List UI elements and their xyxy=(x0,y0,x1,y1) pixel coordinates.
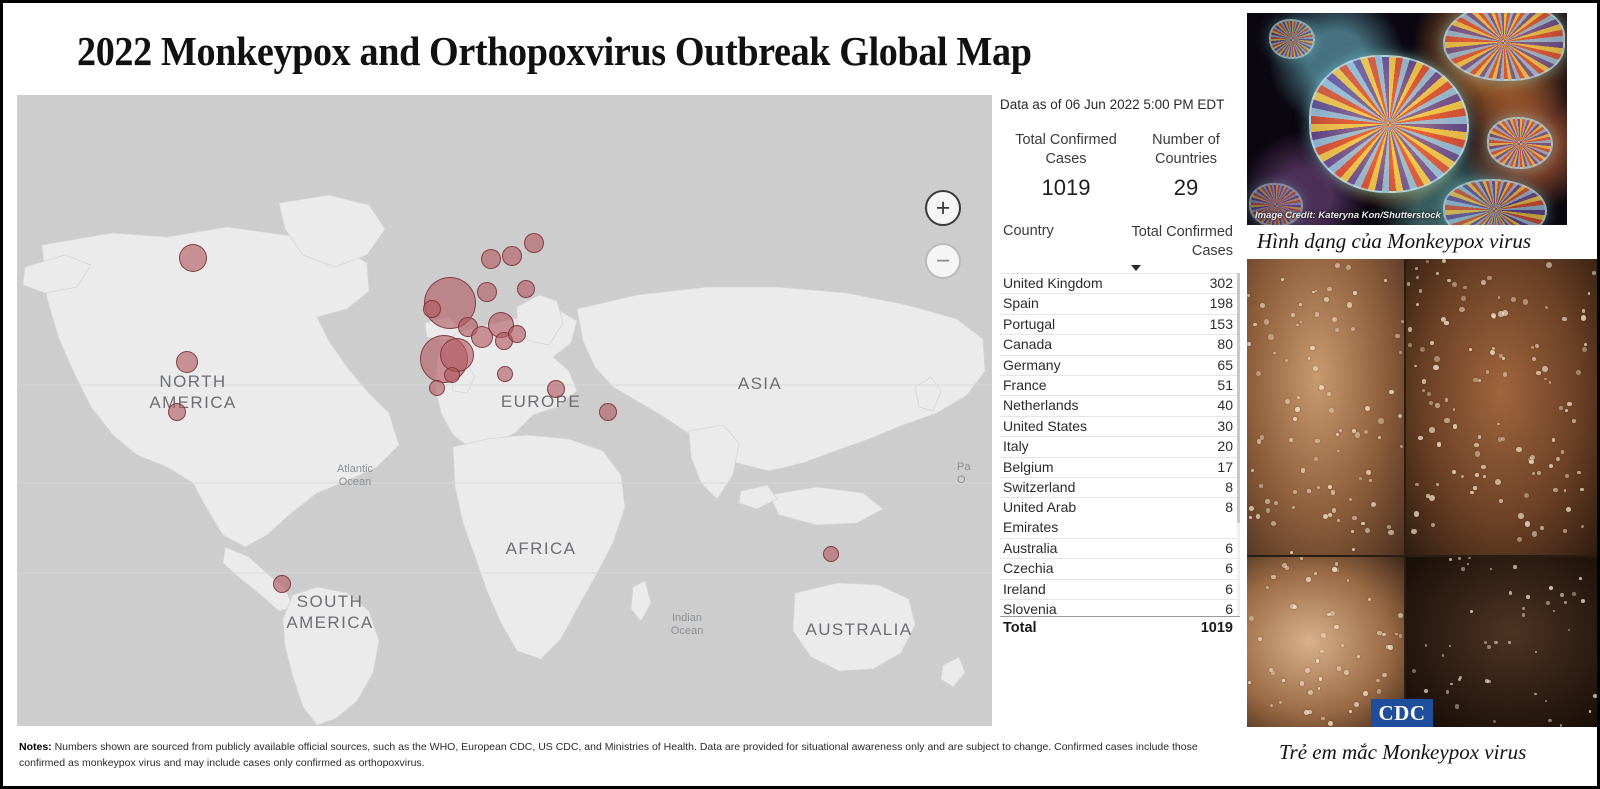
row-cases: 6 xyxy=(1110,540,1233,556)
pox-lesion xyxy=(1426,260,1429,263)
pox-lesion xyxy=(1382,673,1387,678)
pox-lesion xyxy=(1295,407,1300,412)
pox-lesion xyxy=(1484,641,1487,644)
pox-lesion xyxy=(1516,447,1522,453)
pox-lesion xyxy=(1562,317,1567,322)
pox-lesion xyxy=(1388,645,1392,649)
pox-lesion xyxy=(1329,408,1334,413)
pox-lesion xyxy=(1395,633,1398,636)
pox-lesion xyxy=(1453,424,1458,429)
pox-lesion xyxy=(1436,483,1439,486)
pox-lesion xyxy=(1268,334,1273,339)
row-country: Italy xyxy=(1003,438,1029,454)
pox-lesion xyxy=(1478,379,1482,383)
pox-lesion xyxy=(1425,644,1427,646)
kpi-total-cases-value: 1019 xyxy=(1005,175,1127,201)
row-cases: 65 xyxy=(1110,357,1233,373)
pox-lesion xyxy=(1416,276,1419,279)
pox-lesion xyxy=(1388,530,1393,535)
pox-lesion xyxy=(1458,557,1461,560)
pox-lesion xyxy=(1499,499,1503,503)
pox-lesion xyxy=(1407,282,1411,286)
pox-lesion xyxy=(1371,502,1376,507)
pox-lesion xyxy=(1412,669,1416,673)
country-case-table[interactable]: United Kingdom302Spain198Portugal153Cana… xyxy=(1000,273,1240,616)
sort-descending-icon[interactable] xyxy=(1131,265,1141,271)
pox-lesion xyxy=(1546,262,1552,268)
kpi-total-confirmed-cases: Total Confirmed Cases 1019 xyxy=(1005,131,1127,201)
pox-lesion xyxy=(1365,528,1370,533)
case-bubble[interactable] xyxy=(481,249,501,269)
pox-lesion xyxy=(1363,691,1367,695)
pox-lesion xyxy=(1332,567,1336,571)
table-scrollbar-thumb[interactable] xyxy=(1237,273,1240,523)
pox-lesion xyxy=(1296,324,1299,327)
pox-lesion xyxy=(1453,408,1456,411)
pox-lesion xyxy=(1320,650,1323,653)
pox-lesion xyxy=(1299,303,1302,306)
pox-lesion xyxy=(1328,721,1333,726)
pox-lesion xyxy=(1442,654,1445,657)
pox-lesion xyxy=(1418,436,1423,441)
pox-lesion xyxy=(1332,508,1336,512)
pox-lesion xyxy=(1341,644,1344,647)
case-bubble[interactable] xyxy=(599,403,617,421)
pox-lesion xyxy=(1581,525,1584,528)
pox-lesion xyxy=(1344,670,1349,675)
table-row[interactable]: Belgium17 xyxy=(1000,457,1240,477)
pox-lesion xyxy=(1567,402,1572,407)
pox-lesion xyxy=(1481,280,1486,285)
pox-lesion xyxy=(1502,357,1505,360)
case-bubble[interactable] xyxy=(429,380,445,396)
pox-lesion xyxy=(1297,396,1300,399)
pox-lesion xyxy=(1561,450,1565,454)
table-row[interactable]: Spain198 xyxy=(1000,293,1240,313)
pox-lesion xyxy=(1395,334,1400,339)
pox-lesion xyxy=(1565,409,1568,412)
pox-lesion xyxy=(1544,378,1547,381)
pox-lesion xyxy=(1271,671,1275,675)
table-row[interactable]: Czechia6 xyxy=(1000,558,1240,578)
pox-lesion xyxy=(1290,551,1293,554)
pox-lesion xyxy=(1525,521,1530,526)
pox-lesion xyxy=(1315,312,1320,317)
pox-lesion xyxy=(1377,689,1382,694)
pox-lesion xyxy=(1398,414,1402,418)
pox-lesion xyxy=(1293,490,1297,494)
row-cases: 51 xyxy=(1110,377,1233,393)
pox-lesion xyxy=(1553,610,1555,612)
pox-lesion xyxy=(1352,548,1355,551)
row-cases: 17 xyxy=(1110,459,1233,475)
table-row[interactable]: United States30 xyxy=(1000,416,1240,436)
pox-lesion xyxy=(1335,328,1339,332)
column-header-country[interactable]: Country xyxy=(1003,223,1054,239)
pox-lesion xyxy=(1529,460,1534,465)
pox-lesion xyxy=(1305,668,1310,673)
table-row[interactable]: Netherlands40 xyxy=(1000,395,1240,415)
pox-lesion xyxy=(1271,575,1276,580)
case-bubble[interactable] xyxy=(179,244,207,272)
pox-lesion xyxy=(1313,366,1318,371)
pox-lesion xyxy=(1330,611,1335,616)
pox-lesion xyxy=(1560,593,1564,597)
pox-lesion xyxy=(1266,586,1269,589)
case-bubble[interactable] xyxy=(477,282,497,302)
pox-lesion xyxy=(1576,370,1581,375)
pox-lesion xyxy=(1490,568,1493,571)
pox-lesion xyxy=(1429,401,1433,405)
table-row[interactable]: Switzerland8 xyxy=(1000,477,1240,497)
virion-particle-icon xyxy=(1487,117,1553,169)
pox-lesion xyxy=(1354,702,1359,707)
page-title: 2022 Monkeypox and Orthopoxvirus Outbrea… xyxy=(77,27,1032,75)
case-bubble[interactable] xyxy=(524,233,544,253)
pox-lesion xyxy=(1408,327,1413,332)
pox-lesion xyxy=(1579,577,1582,580)
pox-lesion xyxy=(1387,525,1391,529)
zoom-in-button[interactable]: + xyxy=(925,190,961,226)
pox-lesion xyxy=(1264,319,1269,324)
pox-lesion xyxy=(1422,379,1427,384)
pox-lesion xyxy=(1483,475,1486,478)
case-bubble[interactable] xyxy=(440,338,474,372)
case-bubble[interactable] xyxy=(508,325,526,343)
pox-lesion xyxy=(1497,423,1500,426)
row-cases: 6 xyxy=(1110,560,1233,576)
total-label: Total xyxy=(1003,620,1037,636)
column-header-total-confirmed-cases[interactable]: Total Confirmed Cases xyxy=(1110,223,1233,261)
row-cases: 20 xyxy=(1110,438,1233,454)
pox-lesion xyxy=(1368,598,1371,601)
case-bubble[interactable] xyxy=(517,280,535,298)
pox-lesion xyxy=(1271,521,1276,526)
row-country: United Kingdom xyxy=(1003,275,1103,291)
pox-lesion xyxy=(1534,693,1537,696)
pox-lesion xyxy=(1399,351,1402,354)
pox-lesion xyxy=(1490,350,1495,355)
table-row[interactable]: Germany65 xyxy=(1000,355,1240,375)
pox-lesion xyxy=(1291,313,1295,317)
right-image-column: Image Credit: Kateryna Kon/Shutterstock … xyxy=(1243,7,1599,788)
pox-lesion xyxy=(1314,572,1317,575)
pox-lesion xyxy=(1526,595,1530,599)
pox-lesion xyxy=(1581,599,1585,603)
virion-particle-icon xyxy=(1443,13,1565,81)
pox-lesion xyxy=(1319,385,1324,390)
kpi-countries-label: Number of Countries xyxy=(1132,131,1240,169)
pox-lesion xyxy=(1461,475,1464,478)
rash-photo-bottom-right xyxy=(1406,557,1597,727)
pox-lesion xyxy=(1327,392,1331,396)
pox-lesion xyxy=(1508,641,1510,643)
pox-lesion xyxy=(1565,474,1569,478)
pox-lesion xyxy=(1300,321,1303,324)
cdc-watermark: CDC xyxy=(1371,699,1433,727)
pox-lesion xyxy=(1592,271,1596,275)
pox-lesion xyxy=(1474,443,1478,447)
pox-lesion xyxy=(1414,511,1419,516)
pox-lesion xyxy=(1408,343,1412,347)
pox-lesion xyxy=(1470,491,1473,494)
pox-lesion xyxy=(1481,465,1485,469)
pox-lesion xyxy=(1426,494,1430,498)
pox-lesion xyxy=(1359,477,1362,480)
pox-lesion xyxy=(1475,451,1481,457)
pox-lesion xyxy=(1314,457,1319,462)
pox-lesion xyxy=(1308,357,1311,360)
pox-lesion xyxy=(1437,442,1442,447)
case-bubble[interactable] xyxy=(423,300,441,318)
row-country: Czechia xyxy=(1003,560,1054,576)
pox-lesion xyxy=(1251,469,1254,472)
pox-lesion xyxy=(1513,565,1517,569)
pox-lesion xyxy=(1318,687,1321,690)
case-bubble[interactable] xyxy=(823,546,839,562)
pox-lesion xyxy=(1414,365,1417,368)
pox-lesion xyxy=(1337,519,1341,523)
cdc-dashboard: 2022 Monkeypox and Orthopoxvirus Outbrea… xyxy=(7,7,1240,784)
pox-lesion xyxy=(1422,389,1425,392)
table-row[interactable]: Ireland6 xyxy=(1000,579,1240,599)
pox-lesion xyxy=(1310,346,1314,350)
pox-lesion xyxy=(1493,720,1496,723)
pox-lesion xyxy=(1537,471,1542,476)
pox-lesion xyxy=(1285,399,1290,404)
pox-lesion xyxy=(1429,427,1434,432)
pox-lesion xyxy=(1424,689,1428,693)
pox-lesion xyxy=(1435,403,1439,407)
row-country: France xyxy=(1003,377,1047,393)
row-country: Belgium xyxy=(1003,459,1054,475)
pox-lesion xyxy=(1444,418,1449,423)
row-cases: 40 xyxy=(1110,397,1233,413)
row-country: Germany xyxy=(1003,357,1061,373)
pox-lesion xyxy=(1447,279,1450,282)
pox-lesion xyxy=(1442,259,1446,263)
pox-lesion xyxy=(1317,486,1320,489)
pox-lesion xyxy=(1347,302,1352,307)
pox-lesion xyxy=(1589,710,1592,713)
pox-lesion xyxy=(1378,418,1383,423)
pox-lesion xyxy=(1290,604,1295,609)
pox-lesion xyxy=(1549,586,1553,590)
case-bubble[interactable] xyxy=(168,403,186,421)
pox-lesion xyxy=(1487,276,1492,281)
pox-lesion xyxy=(1259,484,1263,488)
pox-lesion xyxy=(1321,633,1326,638)
case-bubble[interactable] xyxy=(497,366,513,382)
case-bubble[interactable] xyxy=(273,575,291,593)
pox-lesion xyxy=(1308,690,1313,695)
virion-particle-icon xyxy=(1269,19,1315,59)
row-country: United States xyxy=(1003,418,1087,434)
case-bubble[interactable] xyxy=(547,380,565,398)
pox-lesion xyxy=(1580,488,1584,492)
pox-lesion xyxy=(1548,719,1551,722)
table-header: Country Total Confirmed Cases xyxy=(1000,223,1240,270)
pox-lesion xyxy=(1260,435,1265,440)
kpi-number-of-countries: Number of Countries 29 xyxy=(1132,131,1240,201)
pox-lesion xyxy=(1470,610,1473,613)
pox-lesion xyxy=(1335,263,1340,268)
pox-lesion xyxy=(1420,347,1425,352)
rash-photo-top-right xyxy=(1406,259,1597,555)
pox-lesion xyxy=(1353,291,1356,294)
pox-lesion xyxy=(1292,506,1295,509)
pox-lesion xyxy=(1273,352,1276,355)
pox-lesion xyxy=(1265,499,1270,504)
pox-lesion xyxy=(1459,307,1465,313)
pox-lesion xyxy=(1248,681,1251,684)
pox-lesion xyxy=(1399,634,1402,637)
pox-lesion xyxy=(1327,287,1331,291)
pox-lesion xyxy=(1581,315,1587,321)
case-bubble[interactable] xyxy=(176,351,198,373)
pox-lesion xyxy=(1546,601,1550,605)
monkeypox-rash-image: CDC xyxy=(1247,259,1597,727)
pox-lesion xyxy=(1468,557,1470,559)
table-row[interactable]: United Kingdom302 xyxy=(1000,273,1240,293)
pox-lesion xyxy=(1357,655,1360,658)
notes-text: Notes: Numbers shown are sourced from pu… xyxy=(19,739,1234,771)
pox-lesion xyxy=(1564,489,1567,492)
pox-lesion xyxy=(1522,607,1525,610)
table-row[interactable]: France51 xyxy=(1000,375,1240,395)
table-row[interactable]: Emirates xyxy=(1000,518,1240,538)
total-value: 1019 xyxy=(1110,620,1233,636)
pox-lesion xyxy=(1449,558,1453,562)
pox-lesion xyxy=(1430,341,1434,345)
pox-lesion xyxy=(1452,470,1456,474)
pox-lesion xyxy=(1247,342,1251,346)
pox-lesion xyxy=(1429,495,1435,501)
pox-lesion xyxy=(1563,529,1566,532)
pox-lesion xyxy=(1249,516,1252,519)
row-country: Slovenia xyxy=(1003,601,1057,616)
pox-lesion xyxy=(1336,433,1339,436)
row-cases: 30 xyxy=(1110,418,1233,434)
row-cases: 302 xyxy=(1110,275,1233,291)
pox-lesion xyxy=(1285,359,1288,362)
pox-lesion xyxy=(1334,625,1338,629)
zoom-out-button[interactable]: − xyxy=(925,243,961,279)
kpi-countries-value: 29 xyxy=(1132,175,1240,201)
pox-lesion xyxy=(1444,321,1448,325)
pox-lesion xyxy=(1517,537,1523,543)
data-as-of-label: Data as of 06 Jun 2022 5:00 PM EDT xyxy=(1000,97,1240,112)
virion-particle-icon xyxy=(1443,179,1547,225)
pox-lesion xyxy=(1494,641,1497,644)
pox-lesion xyxy=(1319,677,1323,681)
caption-virus-shape: Hình dạng của Monkeypox virus xyxy=(1257,229,1531,254)
pox-lesion xyxy=(1315,290,1318,293)
table-row[interactable]: Slovenia6 xyxy=(1000,599,1240,616)
pox-lesion xyxy=(1253,323,1257,327)
pox-lesion xyxy=(1582,309,1585,312)
pox-lesion xyxy=(1511,297,1516,302)
pox-lesion xyxy=(1535,651,1537,653)
row-country: Portugal xyxy=(1003,316,1055,332)
image-credit: Image Credit: Kateryna Kon/Shutterstock xyxy=(1255,210,1441,221)
pox-lesion xyxy=(1540,526,1544,530)
pox-lesion xyxy=(1588,292,1591,295)
row-cases: 153 xyxy=(1110,316,1233,332)
pox-lesion xyxy=(1467,563,1469,565)
pox-lesion xyxy=(1486,370,1490,374)
table-row[interactable]: Canada80 xyxy=(1000,334,1240,354)
table-scrollbar[interactable] xyxy=(1237,273,1240,616)
pox-lesion xyxy=(1452,282,1457,287)
pox-lesion xyxy=(1365,406,1370,411)
world-map[interactable]: NORTH AMERICA ASIA EUROPE AFRICA SOUTH A… xyxy=(17,95,992,726)
pox-lesion xyxy=(1498,311,1504,317)
pox-lesion xyxy=(1491,313,1496,318)
pox-lesion xyxy=(1361,522,1365,526)
table-row[interactable]: Italy20 xyxy=(1000,436,1240,456)
case-bubble[interactable] xyxy=(444,367,460,383)
pox-lesion xyxy=(1487,645,1491,649)
pox-lesion xyxy=(1398,613,1403,618)
table-row[interactable]: United Arab8 xyxy=(1000,497,1240,517)
pox-lesion xyxy=(1532,472,1535,475)
pox-lesion xyxy=(1473,486,1477,490)
pox-lesion xyxy=(1316,659,1319,662)
pox-lesion xyxy=(1542,366,1548,372)
table-row[interactable]: Portugal153 xyxy=(1000,314,1240,334)
notes-body: Numbers shown are sourced from publicly … xyxy=(19,741,1198,769)
row-country: Spain xyxy=(1003,295,1039,311)
pox-lesion xyxy=(1332,317,1337,322)
monkeypox-virus-image: Image Credit: Kateryna Kon/Shutterstock xyxy=(1247,13,1567,225)
pox-lesion xyxy=(1419,289,1422,292)
pox-lesion xyxy=(1436,272,1440,276)
pox-lesion xyxy=(1559,406,1563,410)
pox-lesion xyxy=(1281,278,1284,281)
pox-lesion xyxy=(1257,439,1262,444)
pox-lesion xyxy=(1247,294,1250,297)
pox-lesion xyxy=(1401,320,1404,323)
pox-lesion xyxy=(1376,679,1379,682)
row-country: Switzerland xyxy=(1003,479,1075,495)
pox-lesion xyxy=(1337,666,1341,670)
pox-lesion xyxy=(1351,327,1355,331)
pox-lesion xyxy=(1524,493,1529,498)
pox-lesion xyxy=(1487,680,1491,684)
pox-lesion xyxy=(1568,629,1571,632)
row-country: Australia xyxy=(1003,540,1057,556)
pox-lesion xyxy=(1475,473,1479,477)
rash-photo-top-left xyxy=(1247,259,1404,555)
table-row[interactable]: Australia6 xyxy=(1000,538,1240,558)
pox-lesion xyxy=(1473,378,1478,383)
pox-lesion xyxy=(1532,357,1537,362)
row-cases: 6 xyxy=(1110,581,1233,597)
pox-lesion xyxy=(1509,591,1512,594)
pox-lesion xyxy=(1352,429,1356,433)
pox-lesion xyxy=(1518,513,1524,519)
case-bubble[interactable] xyxy=(502,246,522,266)
row-country: Ireland xyxy=(1003,581,1046,597)
pox-lesion xyxy=(1347,579,1350,582)
pox-lesion xyxy=(1572,592,1576,596)
pox-lesion xyxy=(1335,562,1339,566)
pox-lesion xyxy=(1593,694,1597,698)
pox-lesion xyxy=(1389,390,1393,394)
row-country: Netherlands xyxy=(1003,397,1079,413)
row-country: United Arab xyxy=(1003,499,1076,515)
